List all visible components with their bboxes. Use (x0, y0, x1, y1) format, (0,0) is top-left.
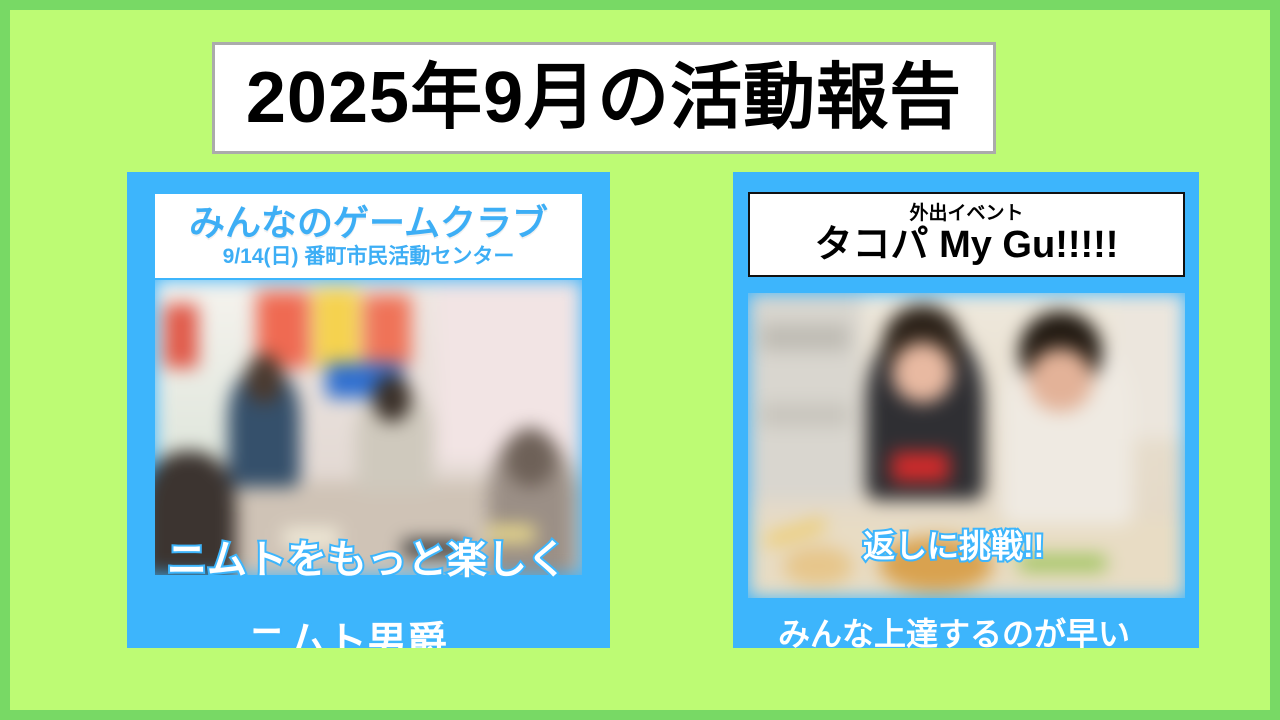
page-title: 2025年9月の活動報告 (246, 62, 962, 134)
photo-overlay-line1: ニムトをもっと楽しく (167, 540, 567, 580)
activity-card-takopa[interactable]: 外出イベント タコパ My Gu!!!!! 返しに挑戦!! みんな上達するのが早… (733, 172, 1199, 648)
slide-canvas: 2025年9月の活動報告 みんなのゲームクラブ 9/14(日) 番町市民活動セン… (0, 0, 1280, 720)
card-title: みんなのゲームクラブ (189, 204, 548, 242)
photo-overlay-line1: 返しに挑戦!! (863, 530, 1044, 562)
photo-overlay-line2: ニムト男爵 (247, 622, 447, 648)
activity-card-game-club[interactable]: みんなのゲームクラブ 9/14(日) 番町市民活動センター ニムト (127, 172, 610, 648)
card-subtitle: 9/14(日) 番町市民活動センター (223, 245, 515, 268)
photo-image (155, 280, 582, 575)
card-header-game-club: みんなのゲームクラブ 9/14(日) 番町市民活動センター (155, 194, 582, 278)
card-kicker: 外出イベント (909, 204, 1023, 225)
card-title: タコパ My Gu!!!!! (815, 226, 1119, 266)
page-title-box: 2025年9月の活動報告 (212, 42, 996, 154)
card-header-takopa: 外出イベント タコパ My Gu!!!!! (748, 192, 1185, 277)
card-photo-game-club (155, 280, 582, 575)
